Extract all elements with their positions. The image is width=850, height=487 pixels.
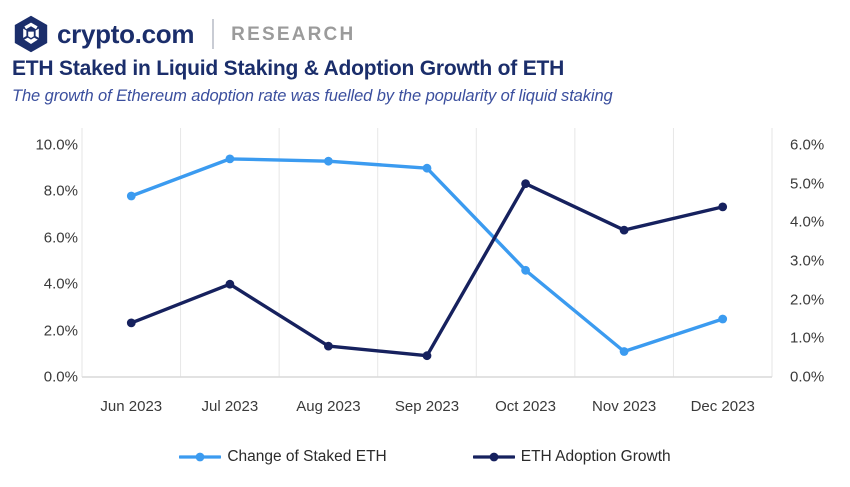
chart-data-point [620, 226, 629, 235]
y-axis-right-tick: 6.0% [790, 137, 824, 154]
y-axis-right-tick: 1.0% [790, 330, 824, 347]
legend-label: ETH Adoption Growth [521, 448, 671, 466]
chart-canvas [0, 128, 850, 398]
x-axis-tick: Sep 2023 [395, 398, 459, 415]
chart-data-point [226, 155, 235, 164]
x-axis-tick: Jun 2023 [100, 398, 162, 415]
chart-plot-area: 0.0%2.0%4.0%6.0%8.0%10.0%0.0%1.0%2.0%3.0… [0, 128, 850, 398]
chart-data-point [324, 342, 333, 351]
y-axis-left-tick: 10.0% [35, 137, 78, 154]
page-title: ETH Staked in Liquid Staking & Adoption … [12, 57, 564, 81]
y-axis-right-tick: 5.0% [790, 175, 824, 192]
brand-divider [212, 19, 214, 49]
chart-data-point [521, 266, 530, 275]
chart-data-point [423, 164, 432, 173]
chart-series-line [131, 184, 722, 356]
legend-item[interactable]: Change of Staked ETH [179, 448, 386, 466]
chart-data-point [423, 351, 432, 360]
page-subtitle: The growth of Ethereum adoption rate was… [12, 87, 613, 106]
legend-item[interactable]: ETH Adoption Growth [473, 448, 671, 466]
chart-data-point [127, 319, 136, 328]
x-axis-tick: Nov 2023 [592, 398, 656, 415]
x-axis-tick: Jul 2023 [201, 398, 258, 415]
chart-data-point [324, 157, 333, 166]
legend-marker-icon [179, 450, 221, 464]
y-axis-right-tick: 2.0% [790, 291, 824, 308]
y-axis-left-tick: 4.0% [44, 276, 78, 293]
chart-data-point [620, 347, 629, 356]
legend-label: Change of Staked ETH [227, 448, 386, 466]
y-axis-right-tick: 0.0% [790, 369, 824, 386]
chart-page: crypto.com RESEARCH ETH Staked in Liquid… [0, 0, 850, 487]
chart-data-point [718, 203, 727, 212]
y-axis-left-tick: 0.0% [44, 369, 78, 386]
y-axis-left-tick: 2.0% [44, 322, 78, 339]
x-axis-tick: Aug 2023 [296, 398, 360, 415]
brand-name: crypto.com [57, 21, 194, 47]
x-axis-tick: Oct 2023 [495, 398, 556, 415]
brand-subtitle: RESEARCH [231, 25, 355, 44]
chart-data-point [127, 192, 136, 201]
chart-data-point [718, 315, 727, 324]
chart-legend: Change of Staked ETHETH Adoption Growth [0, 448, 850, 466]
chart-data-point [226, 280, 235, 289]
brand-header: crypto.com RESEARCH [14, 14, 355, 54]
chart-data-point [521, 179, 530, 188]
y-axis-right-tick: 3.0% [790, 253, 824, 270]
chart-series-line [131, 159, 722, 352]
x-axis-tick: Dec 2023 [691, 398, 755, 415]
legend-marker-icon [473, 450, 515, 464]
y-axis-left-tick: 8.0% [44, 183, 78, 200]
cronos-hexagon-logo-icon [14, 15, 48, 53]
y-axis-left-tick: 6.0% [44, 229, 78, 246]
y-axis-right-tick: 4.0% [790, 214, 824, 231]
